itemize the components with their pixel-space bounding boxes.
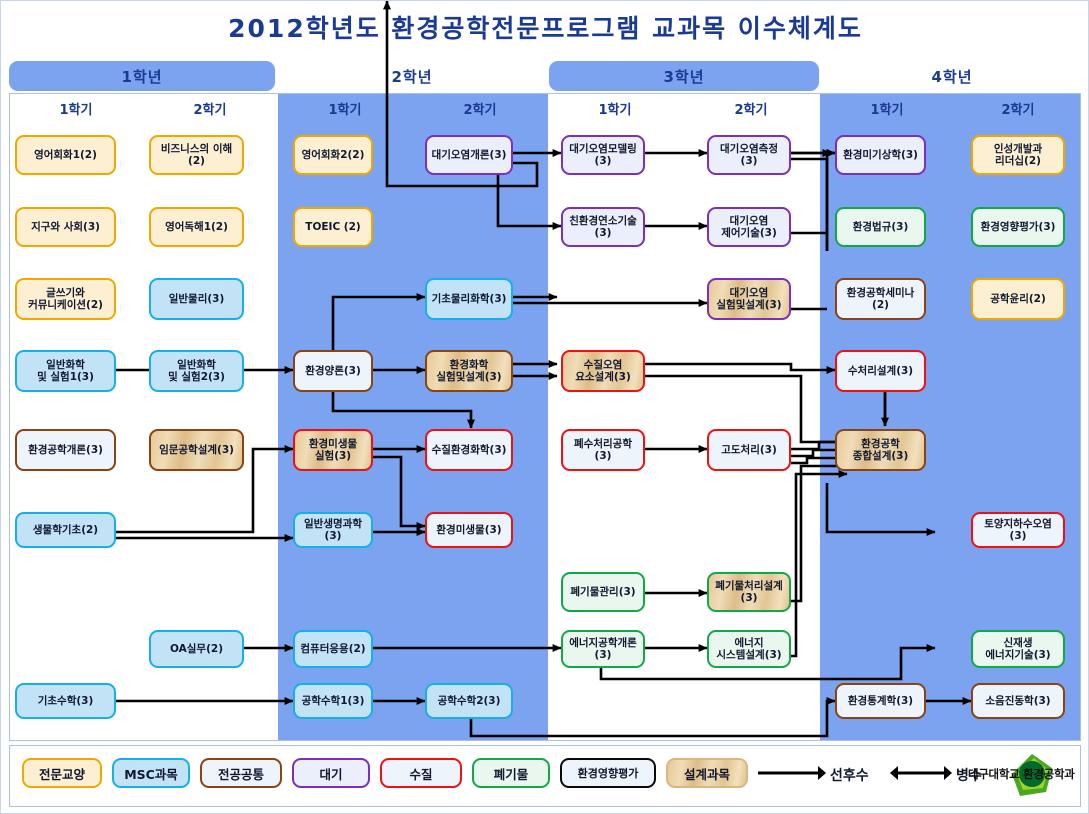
semester-header-7: 1학기 [819,95,955,121]
course-node[interactable]: 영어회화2(2) [293,135,373,175]
course-node[interactable]: 에너지공학개론(3) [561,630,645,668]
course-node[interactable]: 대기오염모델링(3) [561,135,645,175]
course-node[interactable]: 일반화학및 실험2(3) [149,350,244,392]
double-arrow-icon [890,758,952,788]
legend-box-eia[interactable]: 환경영향평가 [560,758,656,788]
course-node[interactable]: 대기오염개론(3) [425,135,513,175]
semester-header-8: 2학기 [955,95,1081,121]
course-node[interactable]: 소음진동학(3) [971,683,1065,719]
semester-header-5: 1학기 [547,95,683,121]
semester-header-6: 2학기 [683,95,819,121]
legend-box-waste[interactable]: 폐기물 [472,758,550,788]
course-node[interactable]: TOEIC (2) [293,207,373,247]
course-node[interactable]: 생물학기초(2) [15,512,116,548]
legend-org-name: 대구대학교 환경공학과 [968,766,1075,782]
course-node[interactable]: 환경통계학(3) [835,683,926,719]
course-node[interactable]: 환경화학실험및설계(3) [425,350,513,392]
course-node[interactable]: 기초물리화학(3) [425,278,513,320]
course-node[interactable]: 수질환경화학(3) [425,429,513,471]
course-node[interactable]: 폐기물처리설계(3) [707,572,791,612]
legend-box-liberal[interactable]: 전문교양 [22,758,102,788]
course-node[interactable]: 환경공학종합설계(3) [835,429,926,471]
course-node[interactable]: 수처리설계(3) [835,350,926,392]
year-header-4: 4학년 [823,61,1081,91]
course-node[interactable]: 폐수처리공학(3) [561,429,645,471]
legend-box-common[interactable]: 전공공통 [200,758,282,788]
course-node[interactable]: 환경미생물실험(3) [293,429,373,471]
course-node[interactable]: 환경양론(3) [293,350,373,392]
course-node[interactable]: 에너지시스템설계(3) [707,630,791,668]
course-node[interactable]: 공학수학1(3) [293,683,373,719]
legend-box-msc[interactable]: MSC과목 [112,758,190,788]
course-node[interactable]: 글쓰기와커뮤니케이션(2) [15,278,116,320]
course-node[interactable]: 영어독해1(2) [149,207,244,247]
legend: 전문교양 MSC과목 전공공통 대기 수질 폐기물 환경영향평가 설계과목 선후… [9,745,1081,807]
course-node[interactable]: 친환경연소기술(3) [561,207,645,247]
course-node[interactable]: 컴퓨터응용(2) [293,630,373,668]
year-header-2: 2학년 [279,61,545,91]
course-node[interactable]: 지구와 사회(3) [15,207,116,247]
semester-header-2: 2학기 [143,95,277,121]
course-node[interactable]: 고도처리(3) [707,429,791,471]
page-title: 2012학년도 환경공학전문프로그램 교과목 이수체계도 [1,9,1089,45]
course-node[interactable]: 인성개발과리더십(2) [971,135,1065,175]
course-node[interactable]: OA실무(2) [149,630,244,668]
legend-label-prereq: 선후수 [830,765,869,785]
course-node[interactable]: 영어회화1(2) [15,135,116,175]
course-node[interactable]: 토양지하수오염(3) [971,512,1065,548]
single-arrow-icon [756,758,826,788]
semester-header-1: 1학기 [9,95,143,121]
semester-header-4: 2학기 [413,95,547,121]
course-node[interactable]: 환경미생물(3) [425,512,513,548]
legend-box-design[interactable]: 설계과목 [666,758,748,788]
legend-box-air[interactable]: 대기 [292,758,370,788]
legend-box-water[interactable]: 수질 [380,758,462,788]
course-node[interactable]: 대기오염제어기술(3) [707,207,791,247]
course-node[interactable]: 대기오염실험및설계(3) [707,278,791,320]
course-node[interactable]: 환경영향평가(3) [971,207,1065,247]
course-node[interactable]: 비즈니스의 이해(2) [149,135,244,175]
course-node[interactable]: 환경법규(3) [835,207,926,247]
course-node[interactable]: 대기오염측정(3) [707,135,791,175]
course-node[interactable]: 임문공학설계(3) [149,429,244,471]
course-node[interactable]: 환경공학개론(3) [15,429,116,471]
course-node[interactable]: 일반물리(3) [149,278,244,320]
year-header-3: 3학년 [549,61,819,91]
course-node[interactable]: 수질오염요소설계(3) [561,350,645,392]
semester-header-3: 1학기 [277,95,413,121]
course-node[interactable]: 일반생명과학(3) [293,512,373,548]
course-node[interactable]: 기초수학(3) [15,683,116,719]
course-node[interactable]: 공학수학2(3) [425,683,513,719]
course-node[interactable]: 신재생에너지기술(3) [971,630,1065,668]
course-node[interactable]: 공학윤리(2) [971,278,1065,320]
course-node[interactable]: 폐기물관리(3) [561,572,645,612]
course-node[interactable]: 환경공학세미나(2) [835,278,926,320]
course-node[interactable]: 환경미기상학(3) [835,135,926,175]
year-header-1: 1학년 [9,61,275,91]
course-node[interactable]: 일반화학및 실험1(3) [15,350,116,392]
